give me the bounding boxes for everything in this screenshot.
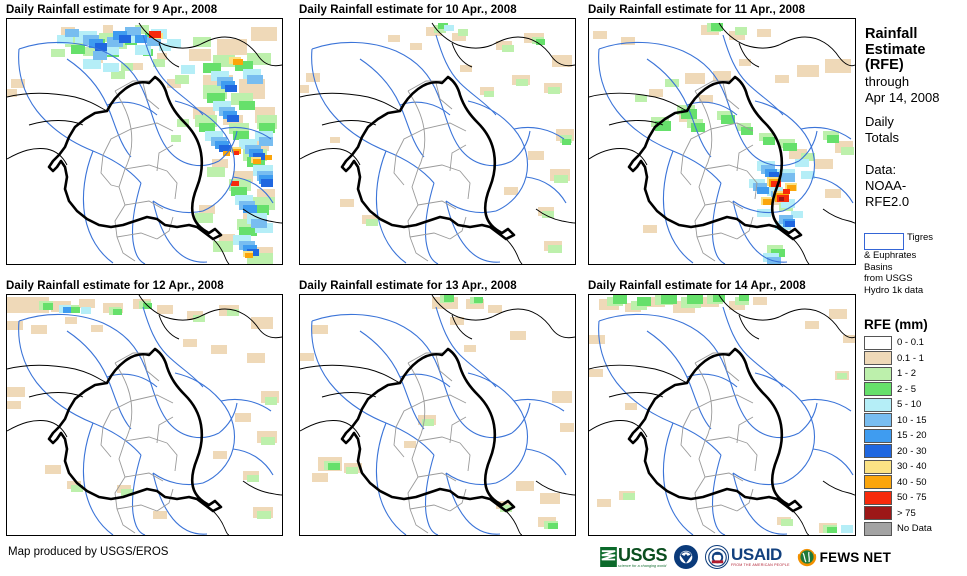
legend-swatch xyxy=(864,460,892,474)
usaid-wordmark: USAID xyxy=(731,547,790,563)
map-panel-3[interactable]: Daily Rainfall estimate for 11 Apr., 200… xyxy=(588,4,856,265)
legend-row: 50 - 75 xyxy=(864,490,967,506)
sidebar-title-line3: (RFE) xyxy=(865,58,939,74)
panel-title: Daily Rainfall estimate for 9 Apr., 2008 xyxy=(6,4,283,16)
sidebar-totals: Daily Totals xyxy=(865,114,899,146)
fews-globe-icon xyxy=(797,547,817,567)
map-canvas-09-apr xyxy=(7,19,282,264)
legend-swatch xyxy=(864,429,892,443)
legend-row: 10 - 15 xyxy=(864,413,967,429)
legend-row: 2 - 5 xyxy=(864,382,967,398)
map-canvas-12-apr xyxy=(7,295,282,535)
legend-row: 40 - 50 xyxy=(864,475,967,491)
data-line3: RFE2.0 xyxy=(865,194,909,210)
data-line1: Data: xyxy=(865,162,909,178)
legend-swatch xyxy=(864,491,892,505)
legend-label: 50 - 75 xyxy=(897,492,927,503)
map-credit: Map produced by USGS/EROS xyxy=(8,546,168,558)
legend-sidebar: Rainfall Estimate (RFE) through Apr 14, … xyxy=(862,0,967,576)
sidebar-title-line2: Estimate xyxy=(865,43,939,59)
usgs-logo[interactable]: USGS science for a changing world xyxy=(600,547,667,568)
rfe-legend-title: RFE (mm) xyxy=(864,317,967,332)
noaa-seal-icon xyxy=(674,545,698,569)
map-frame[interactable] xyxy=(6,18,283,265)
legend-row: > 75 xyxy=(864,506,967,522)
basin-swatch-row: Tigres xyxy=(864,232,967,250)
panel-title: Daily Rainfall estimate for 11 Apr., 200… xyxy=(588,4,856,16)
panel-title: Daily Rainfall estimate for 14 Apr., 200… xyxy=(588,280,856,292)
legend-swatch xyxy=(864,367,892,381)
legend-row: No Data xyxy=(864,521,967,537)
panel-title: Daily Rainfall estimate for 13 Apr., 200… xyxy=(299,280,576,292)
legend-swatch xyxy=(864,382,892,396)
legend-label: 5 - 10 xyxy=(897,399,921,410)
map-frame[interactable] xyxy=(299,18,576,265)
rfe-legend-rows: 0 - 0.10.1 - 11 - 22 - 55 - 1010 - 1515 … xyxy=(864,335,967,537)
map-panel-2[interactable]: Daily Rainfall estimate for 10 Apr., 200… xyxy=(299,4,576,265)
basin-line2: & Euphrates xyxy=(864,250,967,262)
legend-row: 15 - 20 xyxy=(864,428,967,444)
map-panel-4[interactable]: Daily Rainfall estimate for 12 Apr., 200… xyxy=(6,280,283,536)
sidebar-title-line1: Rainfall xyxy=(865,27,939,43)
legend-label: 30 - 40 xyxy=(897,461,927,472)
legend-row: 5 - 10 xyxy=(864,397,967,413)
legend-label: 40 - 50 xyxy=(897,477,927,488)
legend-row: 20 - 30 xyxy=(864,444,967,460)
legend-row: 30 - 40 xyxy=(864,459,967,475)
map-panel-6[interactable]: Daily Rainfall estimate for 14 Apr., 200… xyxy=(588,280,856,536)
map-canvas-10-apr xyxy=(300,19,575,264)
map-frame[interactable] xyxy=(6,294,283,536)
map-frame[interactable] xyxy=(299,294,576,536)
map-panel-5[interactable]: Daily Rainfall estimate for 13 Apr., 200… xyxy=(299,280,576,536)
map-canvas-13-apr xyxy=(300,295,575,535)
usgs-tagline: science for a changing world xyxy=(618,564,667,568)
usgs-wave-icon xyxy=(600,547,617,567)
legend-row: 0.1 - 1 xyxy=(864,351,967,367)
sidebar-heading: Rainfall Estimate (RFE) through Apr 14, … xyxy=(865,27,939,106)
basin-legend: Tigres & Euphrates Basins from USGS Hydr… xyxy=(864,232,967,296)
legend-label: 2 - 5 xyxy=(897,384,916,395)
legend-row: 1 - 2 xyxy=(864,366,967,382)
totals-line2: Totals xyxy=(865,130,899,146)
agency-logos: USGS science for a changing world xyxy=(600,540,891,574)
map-frame[interactable] xyxy=(588,18,856,265)
sidebar-through-date: Apr 14, 2008 xyxy=(865,90,939,106)
basin-line4: from USGS xyxy=(864,273,967,285)
basin-label-inline: Tigres xyxy=(907,232,933,244)
rfe-legend: RFE (mm) 0 - 0.10.1 - 11 - 22 - 55 - 101… xyxy=(864,317,967,537)
legend-swatch xyxy=(864,444,892,458)
rfe-map-page: Daily Rainfall estimate for 9 Apr., 2008 xyxy=(0,0,967,576)
map-panel-1[interactable]: Daily Rainfall estimate for 9 Apr., 2008 xyxy=(6,4,283,265)
sidebar-data-source: Data: NOAA- RFE2.0 xyxy=(865,162,909,210)
fews-wordmark: FEWS NET xyxy=(820,550,891,565)
panel-title: Daily Rainfall estimate for 10 Apr., 200… xyxy=(299,4,576,16)
basin-line5: Hydro 1k data xyxy=(864,285,967,297)
usaid-tagline: FROM THE AMERICAN PEOPLE xyxy=(731,563,790,567)
usgs-wordmark: USGS xyxy=(618,547,667,564)
sidebar-through-label: through xyxy=(865,74,939,90)
usaid-seal-icon xyxy=(705,545,729,569)
legend-label: No Data xyxy=(897,523,932,534)
noaa-logo[interactable] xyxy=(674,545,698,569)
legend-label: 1 - 2 xyxy=(897,368,916,379)
legend-swatch xyxy=(864,522,892,536)
fews-net-logo[interactable]: FEWS NET xyxy=(797,547,891,567)
totals-line1: Daily xyxy=(865,114,899,130)
basin-line3: Basins xyxy=(864,262,967,274)
legend-label: 10 - 15 xyxy=(897,415,927,426)
legend-row: 0 - 0.1 xyxy=(864,335,967,351)
legend-label: 20 - 30 xyxy=(897,446,927,457)
legend-swatch xyxy=(864,475,892,489)
map-canvas-14-apr xyxy=(589,295,855,535)
usaid-logo[interactable]: USAID FROM THE AMERICAN PEOPLE xyxy=(705,545,790,569)
legend-swatch xyxy=(864,506,892,520)
legend-label: > 75 xyxy=(897,508,916,519)
legend-label: 0.1 - 1 xyxy=(897,353,924,364)
legend-swatch xyxy=(864,398,892,412)
legend-label: 0 - 0.1 xyxy=(897,337,924,348)
map-canvas-11-apr xyxy=(589,19,855,264)
data-line2: NOAA- xyxy=(865,178,909,194)
legend-label: 15 - 20 xyxy=(897,430,927,441)
basin-swatch xyxy=(864,233,904,250)
legend-swatch xyxy=(864,336,892,350)
legend-swatch xyxy=(864,413,892,427)
map-frame[interactable] xyxy=(588,294,856,536)
legend-swatch xyxy=(864,351,892,365)
panel-title: Daily Rainfall estimate for 12 Apr., 200… xyxy=(6,280,283,292)
